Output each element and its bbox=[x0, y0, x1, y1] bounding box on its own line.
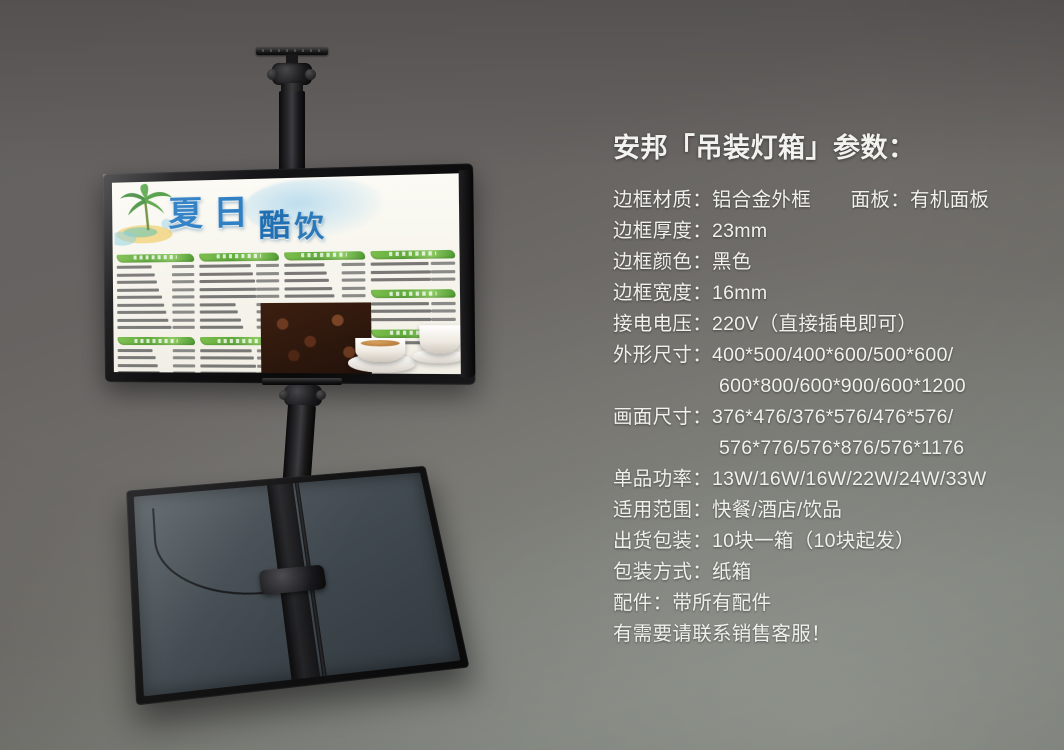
menu-title-char-1: 夏 bbox=[168, 197, 203, 232]
menu-item-row bbox=[371, 260, 455, 267]
menu-item-row bbox=[117, 287, 194, 294]
menu-item-price bbox=[431, 270, 455, 273]
menu-item-price bbox=[172, 349, 194, 352]
menu-item-name bbox=[199, 303, 235, 306]
menu-item-name bbox=[199, 295, 255, 298]
menu-item-name bbox=[284, 279, 330, 283]
tilt-knob-right bbox=[305, 69, 316, 80]
menu-item-row bbox=[199, 263, 279, 270]
menu-item-row bbox=[284, 261, 366, 268]
menu-item-row bbox=[118, 362, 195, 368]
menu-title-char-4: 饮 bbox=[294, 212, 324, 242]
menu-section-header bbox=[117, 337, 194, 345]
spec-line: 接电电压：220V（直接插电即可） bbox=[613, 309, 1043, 340]
frame-depth-edge bbox=[459, 170, 476, 378]
menu-item-price bbox=[342, 279, 366, 282]
menu-item-name bbox=[117, 311, 166, 314]
spec-title: 安邦「吊装灯箱」参数： bbox=[613, 126, 1043, 165]
menu-item-price bbox=[172, 303, 194, 306]
menu-item-row bbox=[371, 276, 455, 283]
spec-line: 边框厚度：23mm bbox=[613, 216, 1043, 247]
spec-line: 边框材质：铝合金外框 面板：有机面板 bbox=[613, 185, 1043, 216]
spec-panel: 安邦「吊装灯箱」参数： 边框材质：铝合金外框 面板：有机面板边框厚度：23mm边… bbox=[613, 126, 1043, 650]
menu-item-row bbox=[371, 268, 455, 275]
menu-item-name bbox=[117, 319, 169, 322]
menu-section bbox=[117, 337, 195, 374]
menu-item-name bbox=[117, 326, 171, 329]
menu-section bbox=[117, 253, 195, 332]
menu-item-name bbox=[284, 287, 332, 291]
menu-item-price bbox=[342, 287, 366, 290]
menu-item-name bbox=[117, 273, 155, 276]
mount-holes bbox=[262, 49, 322, 52]
menu-item-row bbox=[199, 270, 279, 277]
spec-line: 外形尺寸：400*500/400*600/500*600/ bbox=[613, 340, 1043, 371]
menu-item-name bbox=[199, 272, 253, 276]
menu-item-name bbox=[117, 266, 152, 269]
menu-item-price bbox=[172, 319, 194, 322]
menu-item-row bbox=[284, 277, 366, 284]
menu-item-name bbox=[199, 287, 255, 291]
menu-item-name bbox=[117, 296, 162, 299]
menu-item-price bbox=[431, 278, 455, 281]
tilt-knob-left bbox=[267, 69, 278, 80]
menu-title: 夏 日 酷 饮 bbox=[164, 182, 374, 250]
menu-item-price bbox=[172, 296, 194, 299]
ceiling-mount-top bbox=[246, 47, 338, 187]
menu-item-name bbox=[371, 262, 429, 266]
spec-line: 有需要请联系销售客服！ bbox=[613, 619, 1043, 650]
menu-item-row bbox=[284, 293, 366, 300]
menu-item-name bbox=[200, 364, 256, 367]
coffee-photo bbox=[261, 302, 461, 374]
menu-item-row bbox=[199, 278, 279, 285]
lightbox-back bbox=[126, 466, 469, 706]
menu-item-row bbox=[118, 355, 195, 361]
menu-title-char-2: 日 bbox=[213, 195, 248, 231]
menu-section-header bbox=[284, 251, 366, 260]
menu-item-row bbox=[117, 264, 194, 271]
spec-line-list: 边框材质：铝合金外框 面板：有机面板边框厚度：23mm边框颜色：黑色边框宽度：1… bbox=[613, 185, 1043, 650]
spec-line: 画面尺寸：376*476/376*576/476*576/ bbox=[613, 402, 1043, 433]
menu-item-row bbox=[117, 271, 194, 278]
menu-item-price bbox=[173, 364, 195, 367]
menu-section bbox=[371, 250, 456, 285]
spec-line: 576*776/576*876/576*1176 bbox=[613, 433, 1043, 464]
coffee-cup-front bbox=[355, 338, 405, 362]
menu-item-row bbox=[284, 285, 366, 292]
spec-line: 出货包装：10块一箱（10块起发） bbox=[613, 526, 1043, 557]
menu-item-price bbox=[256, 280, 279, 283]
menu-item-name bbox=[284, 264, 325, 268]
menu-item-name bbox=[371, 278, 431, 282]
menu-item-name bbox=[199, 264, 250, 268]
menu-title-char-3: 酷 bbox=[259, 211, 291, 242]
spec-line: 包装方式：纸箱 bbox=[613, 557, 1043, 588]
crema bbox=[361, 340, 399, 346]
menu-item-name bbox=[117, 303, 164, 306]
menu-item-row bbox=[199, 293, 279, 300]
menu-item-row bbox=[117, 325, 194, 331]
menu-item-name bbox=[118, 364, 158, 367]
menu-item-name bbox=[118, 349, 153, 352]
menu-item-row bbox=[117, 279, 194, 286]
menu-section-header bbox=[371, 250, 455, 260]
menu-item-name bbox=[117, 281, 157, 284]
menu-item-row bbox=[117, 302, 194, 309]
menu-item-row bbox=[117, 317, 194, 323]
coffee-cup-back bbox=[419, 325, 460, 354]
menu-item-row bbox=[117, 309, 194, 315]
menu-item-price bbox=[172, 265, 194, 268]
menu-item-price bbox=[342, 271, 366, 274]
menu-item-price bbox=[172, 326, 194, 329]
menu-artwork: 夏 日 酷 饮 bbox=[112, 173, 461, 374]
tilt-knob-left-middle bbox=[279, 390, 289, 400]
mount-bar bbox=[262, 378, 342, 385]
menu-item-name bbox=[199, 280, 255, 284]
menu-item-name bbox=[200, 349, 251, 352]
menu-column bbox=[117, 253, 195, 370]
menu-item-name bbox=[200, 318, 241, 321]
menu-item-price bbox=[256, 272, 279, 275]
menu-item-name bbox=[200, 311, 239, 314]
menu-item-name bbox=[200, 326, 243, 329]
menu-hero: 夏 日 酷 饮 bbox=[112, 173, 460, 258]
menu-item-price bbox=[172, 288, 194, 291]
spec-line: 配件：带所有配件 bbox=[613, 588, 1043, 619]
spec-line: 边框宽度：16mm bbox=[613, 278, 1043, 309]
spec-line: 600*800/600*900/600*1200 bbox=[613, 371, 1043, 402]
spec-line: 边框颜色：黑色 bbox=[613, 247, 1043, 278]
menu-item-price bbox=[256, 295, 279, 298]
spec-line: 单品功率：13W/16W/16W/22W/24W/33W bbox=[613, 464, 1043, 495]
menu-item-price bbox=[256, 287, 279, 290]
menu-item-price bbox=[342, 263, 366, 266]
menu-item-row bbox=[118, 347, 195, 353]
product-poster: 夏 日 酷 饮 bbox=[0, 0, 1064, 750]
menu-item-row bbox=[284, 269, 366, 276]
menu-item-name bbox=[284, 271, 327, 275]
menu-section-header bbox=[371, 289, 455, 298]
menu-item-price bbox=[172, 311, 194, 314]
menu-item-row bbox=[199, 286, 279, 293]
menu-item-name bbox=[371, 270, 431, 274]
menu-item-price bbox=[172, 280, 194, 283]
lightbox-front: 夏 日 酷 饮 bbox=[103, 163, 476, 385]
menu-item-name bbox=[200, 357, 254, 360]
menu-item-name bbox=[118, 356, 156, 359]
menu-item-name bbox=[117, 288, 159, 291]
menu-section-header bbox=[199, 252, 279, 261]
tilt-knob-right-middle bbox=[316, 390, 326, 400]
spec-line: 适用范围：快餐/酒店/饮品 bbox=[613, 495, 1043, 526]
menu-item-price bbox=[173, 357, 195, 360]
menu-section-header bbox=[117, 253, 194, 262]
menu-item-row bbox=[117, 294, 194, 301]
menu-item-price bbox=[255, 264, 278, 267]
menu-item-price bbox=[342, 294, 366, 297]
menu-item-name bbox=[284, 295, 334, 298]
menu-panel: 夏 日 酷 饮 bbox=[112, 173, 461, 374]
menu-item-price bbox=[172, 273, 194, 276]
menu-item-price bbox=[431, 262, 455, 265]
